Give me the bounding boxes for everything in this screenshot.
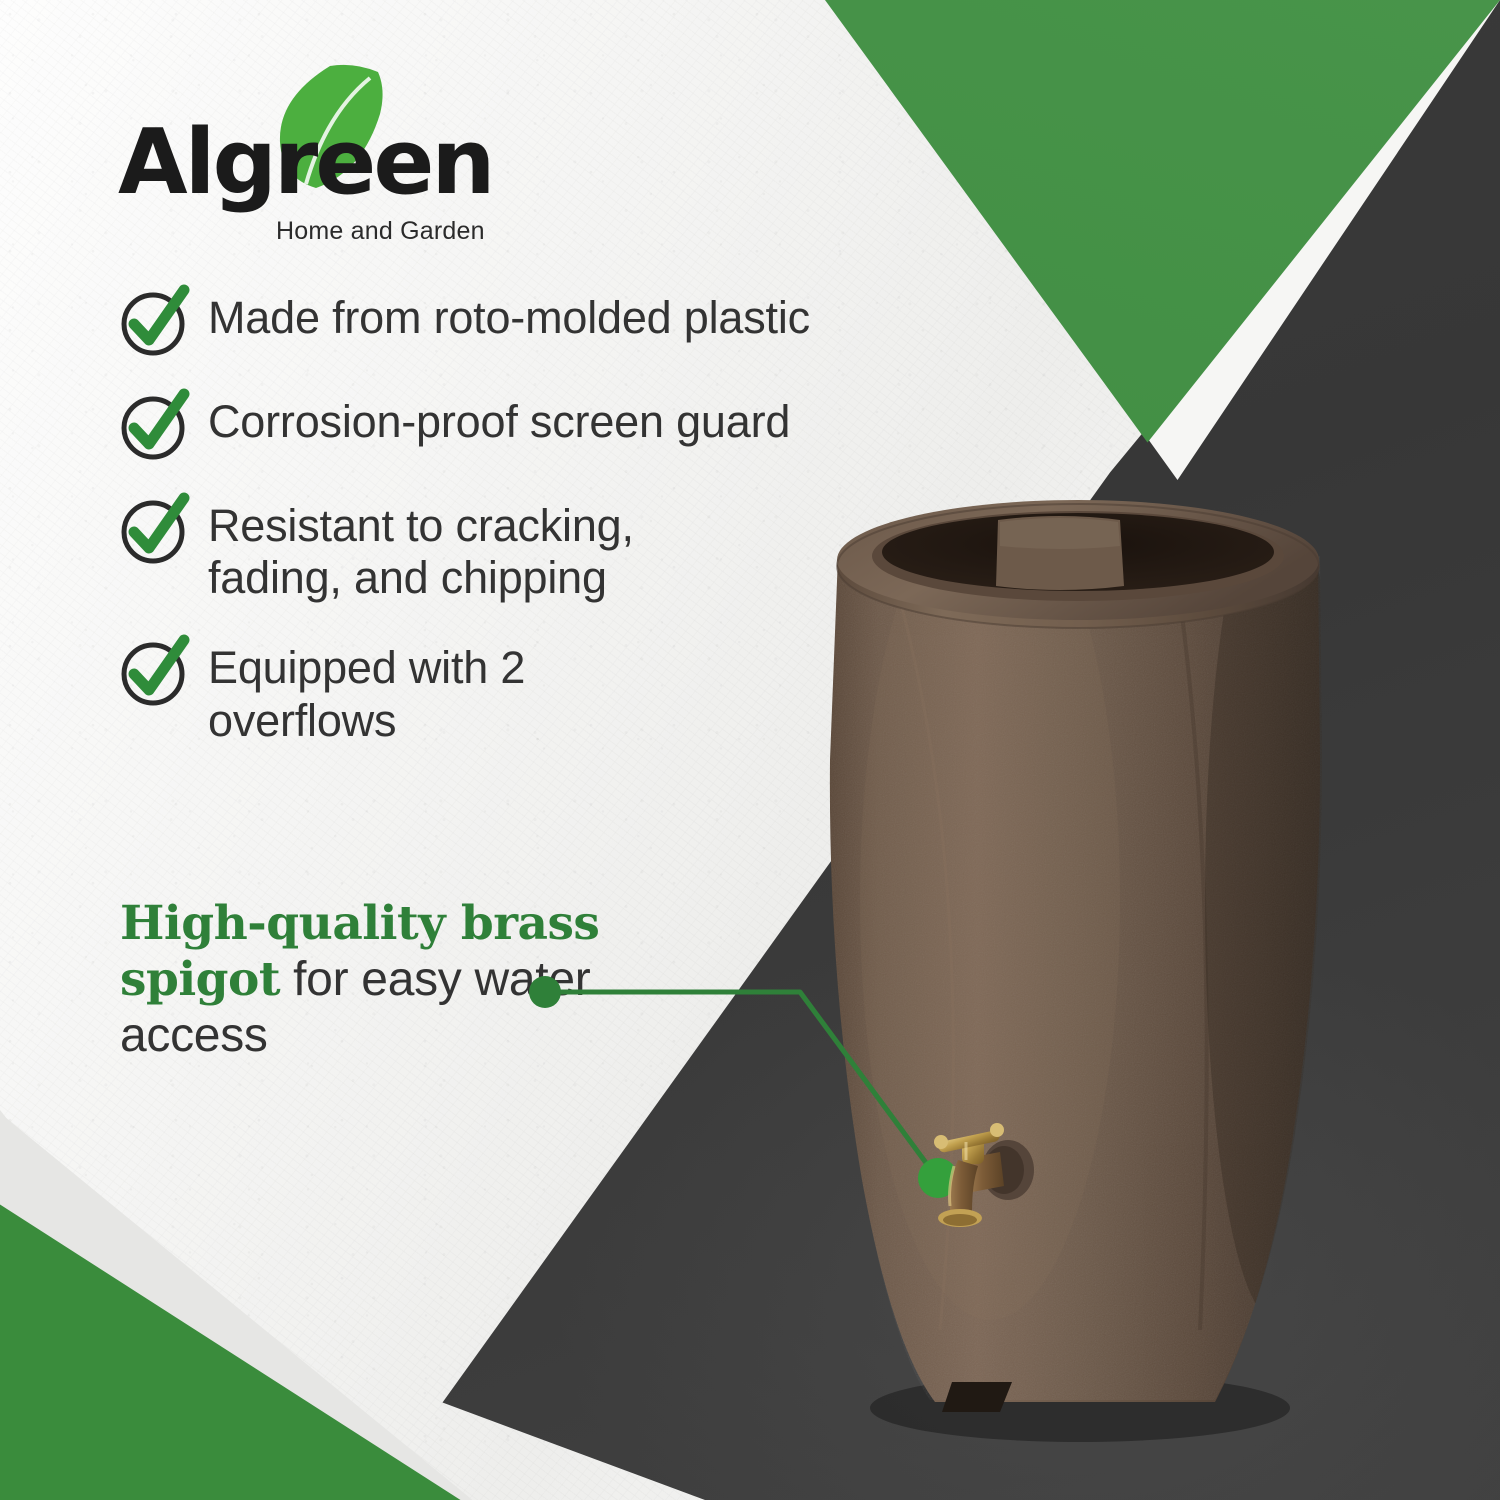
brass-spigot-icon bbox=[0, 0, 1500, 1500]
product-feature-infographic: Algreen Home and Garden Made from roto-m… bbox=[0, 0, 1500, 1500]
